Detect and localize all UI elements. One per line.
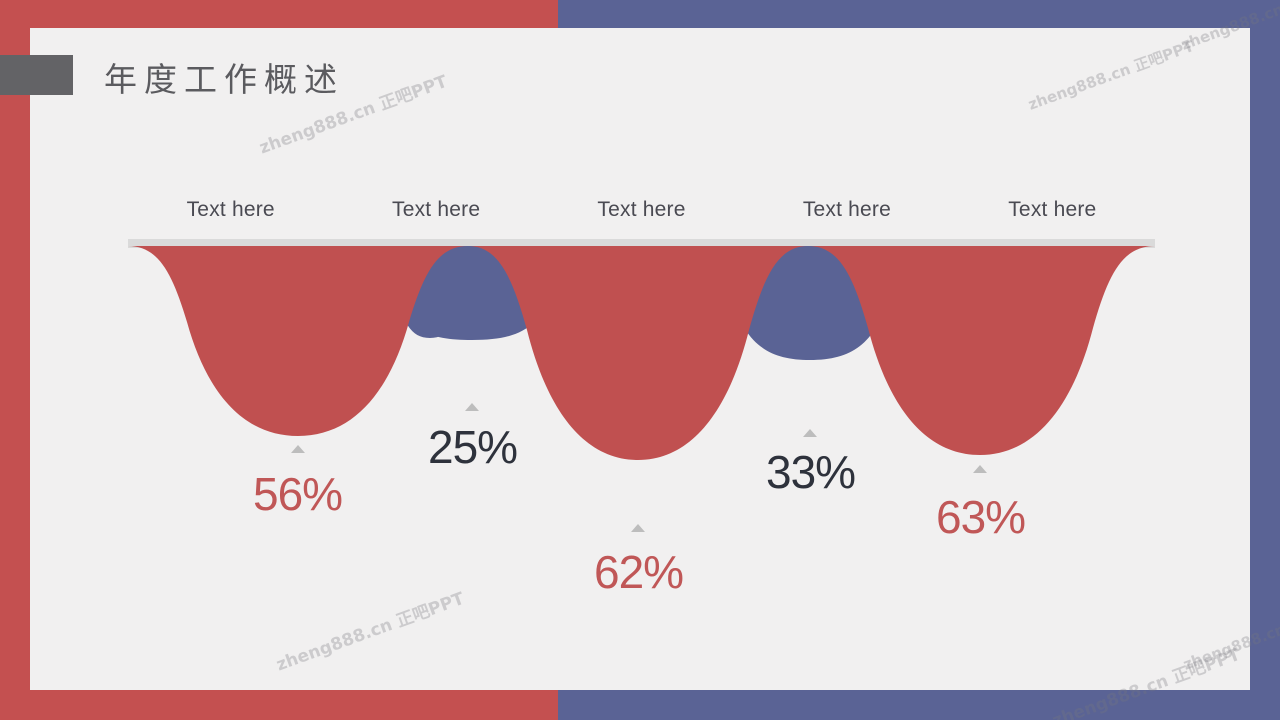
wave-chart	[0, 246, 1280, 486]
value-label-5: 63%	[936, 490, 1025, 544]
title-accent-tab	[0, 55, 73, 95]
column-label-4: Text here	[744, 198, 949, 236]
marker-triangle-5	[973, 465, 987, 473]
marker-triangle-3	[631, 524, 645, 532]
value-label-2: 25%	[428, 420, 517, 474]
lobe-red-1	[128, 246, 468, 436]
value-label-4: 33%	[766, 445, 855, 499]
column-label-3: Text here	[539, 198, 744, 236]
column-label-2: Text here	[333, 198, 538, 236]
column-labels: Text here Text here Text here Text here …	[128, 198, 1155, 236]
column-label-1: Text here	[128, 198, 333, 236]
column-label-5: Text here	[950, 198, 1155, 236]
marker-triangle-2	[465, 403, 479, 411]
value-label-3: 62%	[594, 545, 683, 599]
marker-triangle-4	[803, 429, 817, 437]
page-title: 年度工作概述	[104, 58, 344, 102]
lobe-red-3	[468, 246, 808, 460]
chart-series-red	[128, 246, 1155, 460]
lobe-red-5	[808, 246, 1155, 455]
value-label-1: 56%	[253, 467, 342, 521]
slide-canvas: 年度工作概述 Text here Text here Text here Tex…	[0, 0, 1280, 720]
marker-triangle-1	[291, 445, 305, 453]
